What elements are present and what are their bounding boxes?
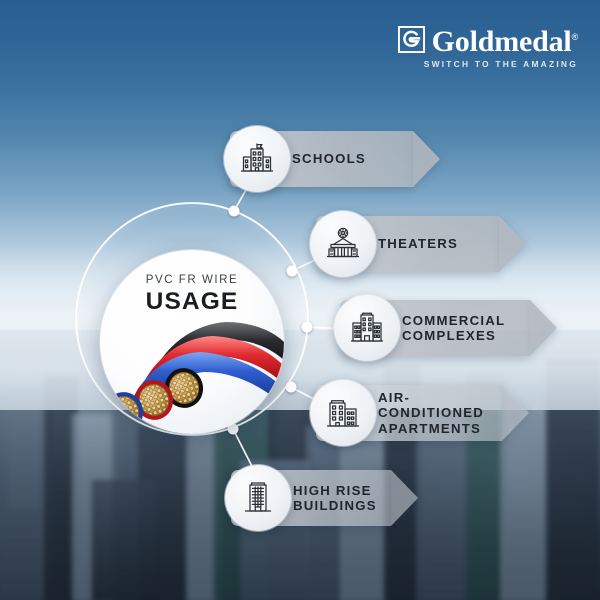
usage-item-label: AIR-CONDITIONED APARTMENTS xyxy=(378,390,484,437)
usage-item-theaters[interactable]: THEATERS xyxy=(316,216,499,272)
pvc-fr-wire-product-image xyxy=(100,316,284,434)
usage-item-label: SCHOOLS xyxy=(292,151,366,167)
infographic-canvas: PVC FR WIRE USAGE xyxy=(0,0,600,600)
brand-logo[interactable]: Goldmedal® SWITCH TO THE AMAZING xyxy=(398,22,578,69)
usage-item-air-conditioned-apartments[interactable]: AIR-CONDITIONED APARTMENTS xyxy=(316,385,502,441)
usage-item-commercial-complexes[interactable]: COMMERCIAL COMPLEXES xyxy=(340,300,530,356)
usage-item-schools[interactable]: SCHOOLS xyxy=(230,131,413,187)
brand-name-text: Goldmedal xyxy=(432,25,572,58)
goldmedal-g-mark-icon xyxy=(398,26,425,53)
theater-building-icon xyxy=(310,211,376,277)
school-building-icon xyxy=(224,126,290,192)
high-rise-tower-icon xyxy=(225,465,291,531)
usage-item-high-rise-buildings[interactable]: HIGH RISE BUILDINGS xyxy=(231,470,391,526)
usage-item-label: THEATERS xyxy=(378,236,458,252)
usage-item-label: HIGH RISE BUILDINGS xyxy=(293,483,377,514)
hub-circle: PVC FR WIRE USAGE xyxy=(100,250,284,434)
hub-title: USAGE xyxy=(100,288,284,316)
usage-item-label: COMMERCIAL COMPLEXES xyxy=(402,313,505,344)
apartment-building-icon xyxy=(310,380,376,446)
brand-tagline: SWITCH TO THE AMAZING xyxy=(398,59,578,69)
brand-name: Goldmedal® xyxy=(432,22,578,57)
hub-subtitle: PVC FR WIRE xyxy=(100,274,284,286)
registered-mark: ® xyxy=(572,32,578,42)
office-towers-icon xyxy=(334,295,400,361)
